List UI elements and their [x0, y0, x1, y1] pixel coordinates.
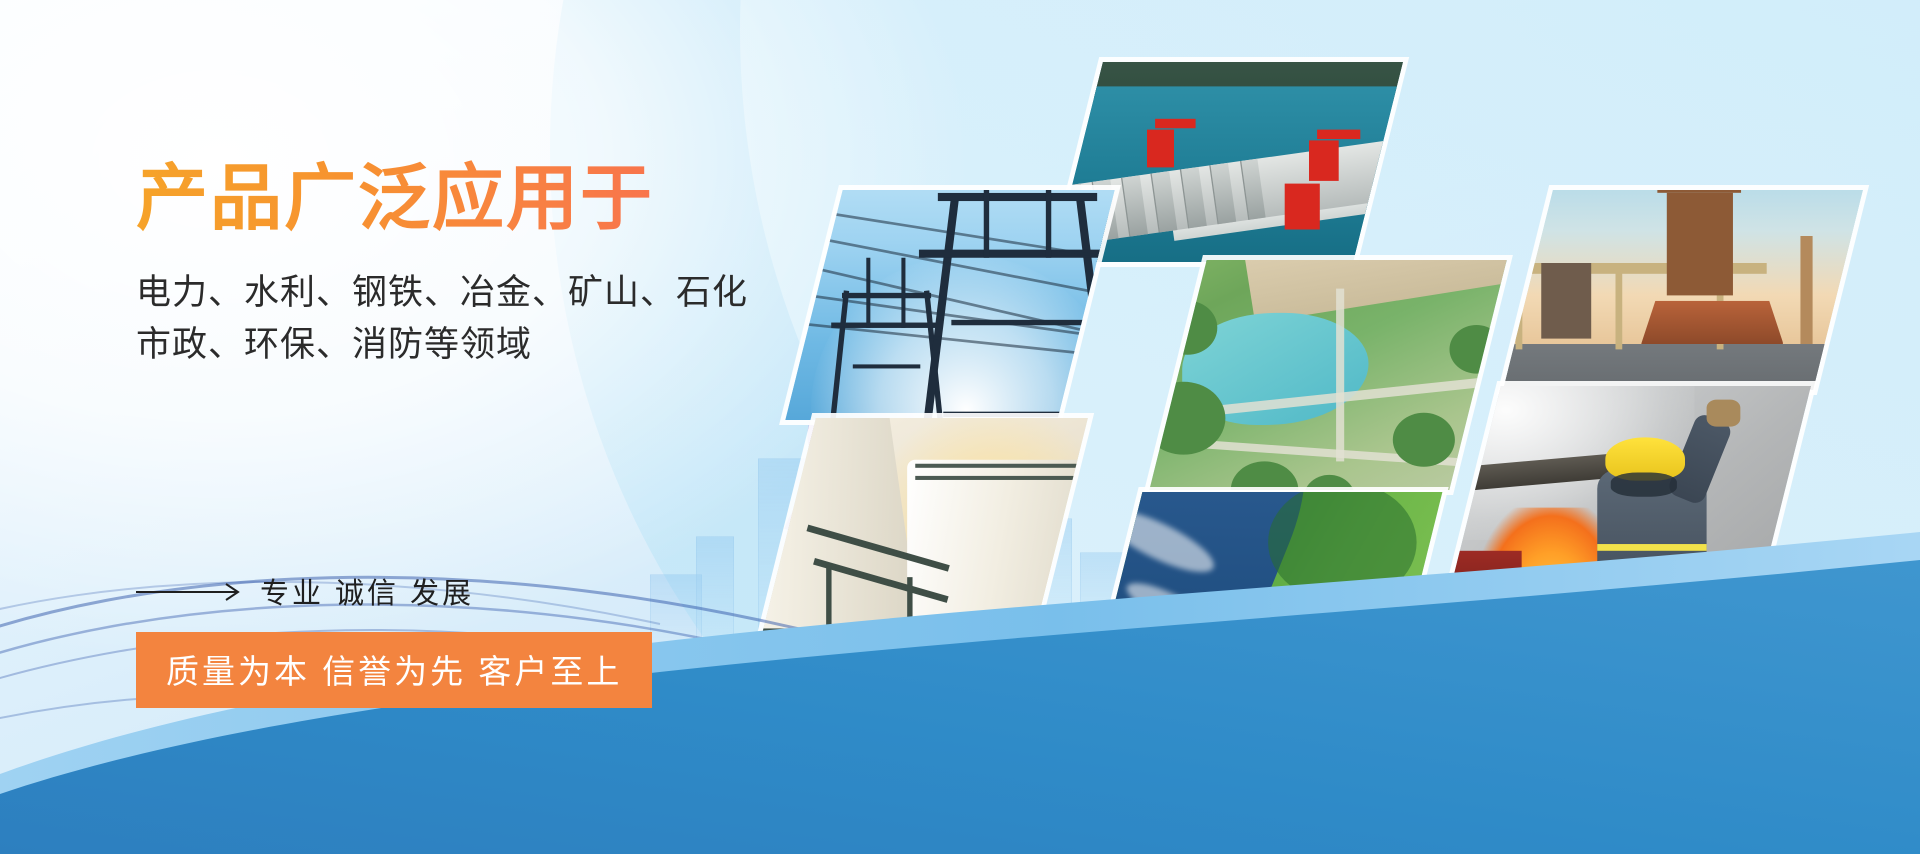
panel-municipal-park	[1149, 260, 1506, 490]
panel-hydropower-dam	[1053, 62, 1403, 262]
banner-copy: 产品广泛应用于 电力、水利、钢铁、冶金、矿山、石化 市政、环保、消防等领域	[136, 160, 856, 371]
banner-subtitle: 电力、水利、钢铁、冶金、矿山、石化 市政、环保、消防等领域	[136, 267, 856, 371]
slogan-row: 专业 诚信 发展	[136, 570, 474, 612]
banner-headline: 产品广泛应用于	[136, 160, 856, 239]
promo-banner: 产品广泛应用于 电力、水利、钢铁、冶金、矿山、石化 市政、环保、消防等领域 专业…	[0, 0, 1920, 854]
banner-subtitle-line-1: 电力、水利、钢铁、冶金、矿山、石化	[136, 267, 856, 319]
panel-steel-mill	[1503, 190, 1863, 390]
quality-badge-text: 质量为本 信誉为先 客户至上	[166, 653, 622, 690]
quality-badge: 质量为本 信誉为先 客户至上	[136, 632, 652, 708]
banner-subtitle-line-2: 市政、环保、消防等领域	[136, 319, 856, 371]
slogan-text: 专业 诚信 发展	[260, 570, 474, 612]
arrow-right-icon	[136, 580, 246, 602]
